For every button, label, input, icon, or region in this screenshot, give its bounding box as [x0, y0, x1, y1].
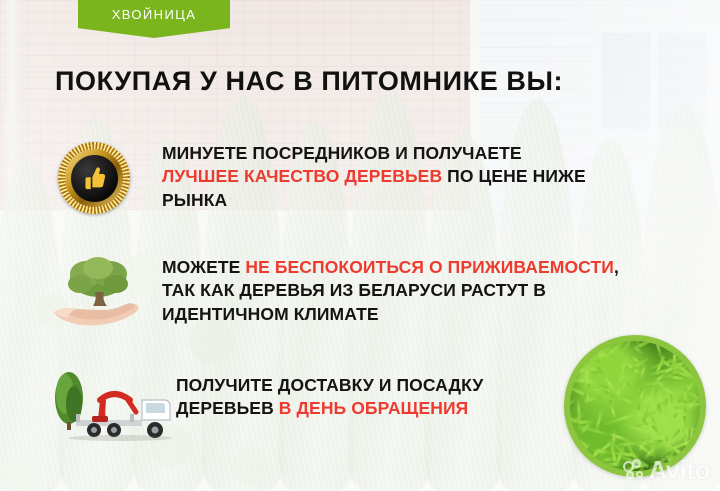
benefit-item-survival: МОЖЕТЕ НЕ БЕСПОКОИТЬСЯ О ПРИЖИВАЕМОСТИ, … [44, 250, 619, 336]
foliage-frond [629, 354, 640, 363]
benefit-icon-slot [44, 136, 162, 222]
benefit-text-highlight: ЛУЧШЕЕ КАЧЕСТВО ДЕРЕВЬЕВ [162, 166, 442, 186]
benefit-text: МОЖЕТЕ НЕ БЕСПОКОИТЬСЯ О ПРИЖИВАЕМОСТИ, … [162, 250, 619, 326]
benefit-text-part: , [614, 257, 619, 277]
benefit-item-delivery: ПОЛУЧИТЕ ДОСТАВКУ И ПОСАДКУ ДЕРЕВЬЕВ В Д… [36, 360, 483, 446]
benefit-text: МИНУЕТЕ ПОСРЕДНИКОВ И ПОЛУЧАЕТЕ ЛУЧШЕЕ К… [162, 136, 586, 212]
benefit-text-highlight: В ДЕНЬ ОБРАЩЕНИЯ [279, 398, 469, 418]
benefit-line: РЫНКА [162, 189, 586, 212]
benefit-line: МИНУЕТЕ ПОСРЕДНИКОВ И ПОЛУЧАЕТЕ [162, 142, 586, 165]
medal-core [71, 155, 118, 202]
gold-medal-thumbs-up-icon [58, 142, 130, 214]
benefit-text-part: МОЖЕТЕ [162, 257, 245, 277]
benefit-line: ТАК КАК ДЕРЕВЬЯ ИЗ БЕЛАРУСИ РАСТУТ В [162, 279, 619, 302]
benefit-text-part: ПО ЦЕНЕ НИЖЕ [442, 166, 586, 186]
benefit-text-part: ДЕРЕВЬЕВ [176, 398, 279, 418]
foliage-frond [570, 432, 579, 440]
benefit-line: МОЖЕТЕ НЕ БЕСПОКОИТЬСЯ О ПРИЖИВАЕМОСТИ, [162, 256, 619, 279]
benefit-icon-slot [44, 250, 162, 336]
benefit-item-quality: МИНУЕТЕ ПОСРЕДНИКОВ И ПОЛУЧАЕТЕ ЛУЧШЕЕ К… [44, 136, 586, 222]
benefit-text: ПОЛУЧИТЕ ДОСТАВКУ И ПОСАДКУ ДЕРЕВЬЕВ В Д… [176, 360, 483, 421]
thuja-foliage-inner [570, 341, 700, 471]
benefit-line: ДЕРЕВЬЕВ В ДЕНЬ ОБРАЩЕНИЯ [176, 397, 483, 420]
foliage-frond [692, 470, 700, 471]
benefit-text-part: МИНУЕТЕ ПОСРЕДНИКОВ И ПОЛУЧАЕТЕ [162, 143, 522, 163]
benefit-line: ИДЕНТИЧНОМ КЛИМАТЕ [162, 303, 619, 326]
benefit-text-part: ТАК КАК ДЕРЕВЬЯ ИЗ БЕЛАРУСИ РАСТУТ В [162, 280, 546, 300]
foliage-frond [570, 397, 577, 419]
benefit-line: ЛУЧШЕЕ КАЧЕСТВО ДЕРЕВЬЕВ ПО ЦЕНЕ НИЖЕ [162, 165, 586, 188]
medal-inner-ring [65, 149, 123, 207]
benefit-icon-slot [36, 360, 176, 446]
benefit-text-part: РЫНКА [162, 190, 227, 210]
crane-truck-tree-icon [42, 364, 182, 444]
thuja-foliage-photo [564, 335, 706, 477]
benefit-line: ПОЛУЧИТЕ ДОСТАВКУ И ПОСАДКУ [176, 374, 483, 397]
benefit-text-highlight: НЕ БЕСПОКОИТЬСЯ О ПРИЖИВАЕМОСТИ [245, 257, 614, 277]
foliage-frond [595, 404, 605, 432]
promo-poster: ХВОЙНИЦА ПОКУПАЯ У НАС В ПИТОМНИКЕ ВЫ: [0, 0, 720, 491]
benefit-text-part: ИДЕНТИЧНОМ КЛИМАТЕ [162, 304, 379, 324]
hand-holding-tree-icon [50, 252, 156, 334]
foliage-frond [571, 344, 582, 348]
benefit-text-part: ПОЛУЧИТЕ ДОСТАВКУ И ПОСАДКУ [176, 375, 483, 395]
foliage-frond [609, 394, 636, 405]
foliage-frond [608, 399, 616, 419]
